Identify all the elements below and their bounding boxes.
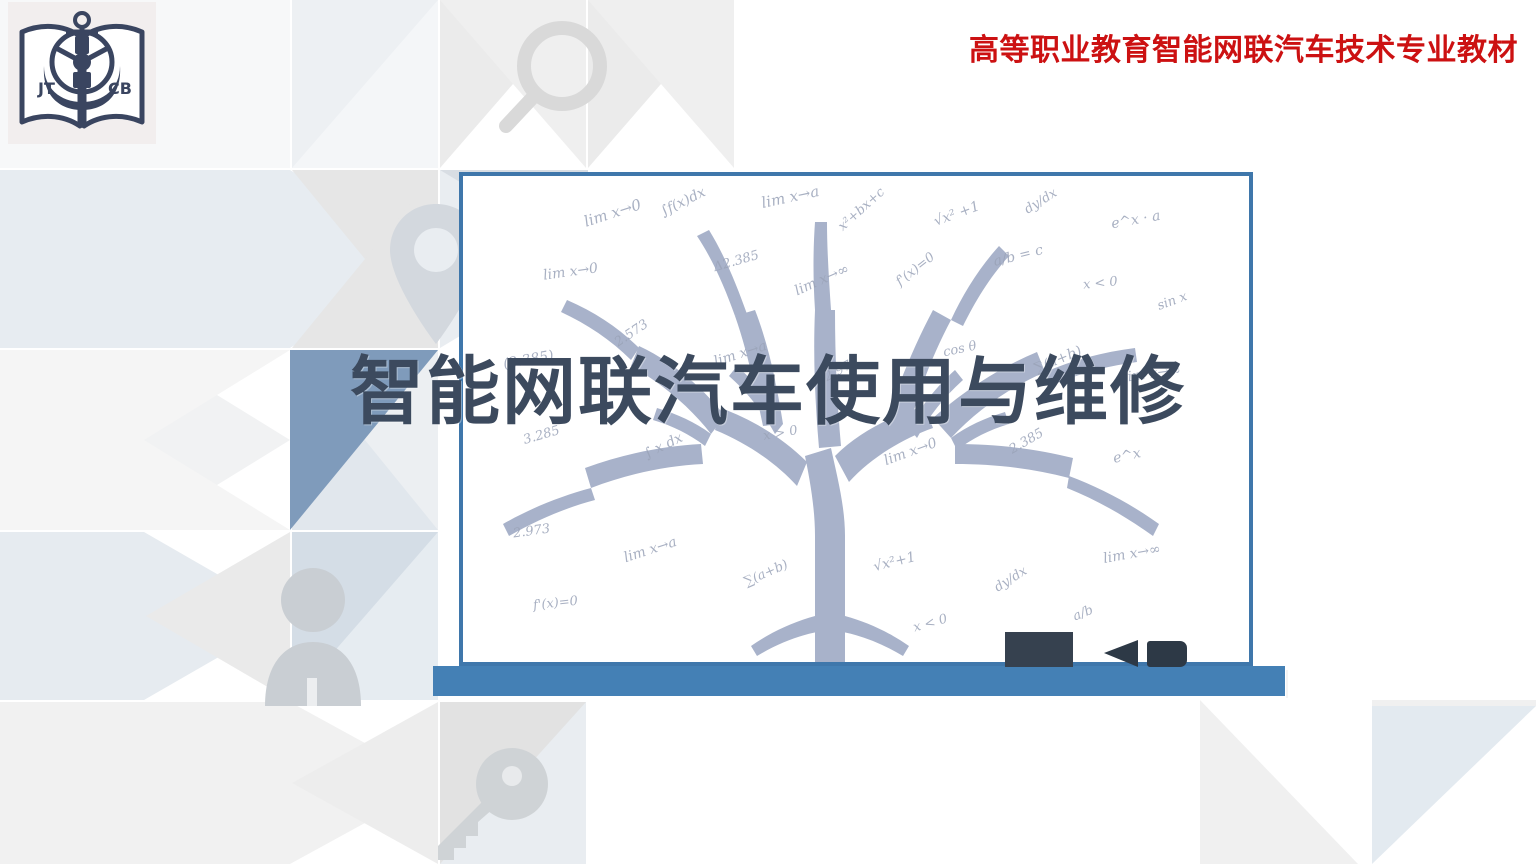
logo-left-text: JT (37, 79, 55, 98)
logo-right-text: CB (108, 79, 132, 98)
jtcb-logo-icon: JT CB (16, 10, 148, 136)
whiteboard-ledge (433, 666, 1285, 696)
header-title: 高等职业教育智能网联汽车技术专业教材 (969, 25, 1518, 69)
presentation-slide: JT CB 高等职业教育智能网联汽车技术专业教材 (0, 0, 1536, 864)
user-icon (255, 560, 371, 706)
slide-header: JT CB 高等职业教育智能网联汽车技术专业教材 (0, 0, 1536, 148)
publisher-logo: JT CB (8, 2, 156, 144)
page-title: 智能网联汽车使用与维修 (0, 355, 1536, 429)
marker-body-icon (1147, 641, 1187, 667)
key-icon (432, 742, 562, 862)
marker-tip-icon (1104, 640, 1138, 667)
eraser (1005, 632, 1073, 667)
